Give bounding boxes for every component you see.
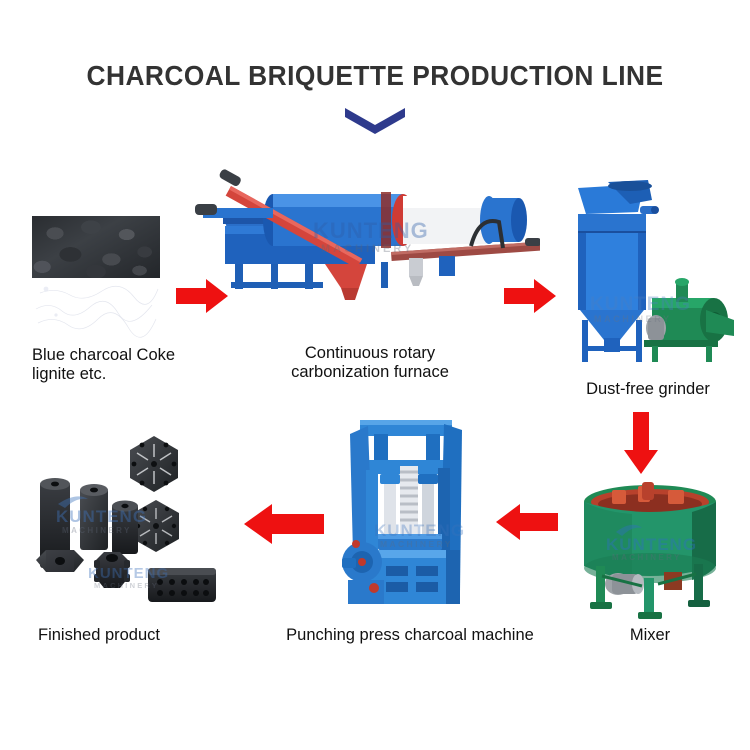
svg-text:MACHINERY: MACHINERY: [94, 581, 159, 590]
step-label-carbonization-furnace: Continuous rotary carbonization furnace: [225, 344, 515, 382]
step-label-punching-press: Punching press charcoal machine: [240, 626, 580, 645]
flow-arrow-left-2: [244, 502, 324, 551]
svg-text:KUNTENG: KUNTENG: [606, 535, 697, 554]
svg-text:MACHINERY: MACHINERY: [380, 539, 453, 549]
svg-text:KUNTENG: KUNTENG: [313, 218, 429, 243]
finished-product-photo: KUNTENG MACHINERY KUNTENG MACHINERY: [28, 430, 238, 610]
mixer-photo: KUNTENG MACHINERY: [572, 480, 728, 620]
press-label: Punching press charcoal machine: [286, 626, 534, 644]
finished-product-label: Finished product: [38, 626, 160, 644]
raw-material-coal-photo: [32, 216, 160, 278]
punching-press-photo: KUNTENG MACHINERY: [330, 410, 490, 610]
svg-text:KUNTENG: KUNTENG: [590, 294, 691, 315]
svg-text:KUNTENG: KUNTENG: [88, 565, 169, 582]
mixer-label: Mixer: [630, 626, 670, 644]
production-line-infographic: CHARCOAL BRIQUETTE PRODUCTION LINE Blue …: [0, 0, 750, 750]
svg-text:KUNTENG: KUNTENG: [374, 521, 465, 540]
raw-material-label-line2: lignite etc.: [32, 365, 106, 383]
chevron-down-icon: [345, 108, 405, 134]
grinder-label: Dust-free grinder: [586, 380, 710, 398]
svg-text:KUNTENG: KUNTENG: [56, 507, 147, 526]
furnace-label-line2: carbonization furnace: [291, 363, 449, 381]
step-label-dust-free-grinder: Dust-free grinder: [548, 380, 748, 399]
carbonization-furnace-photo: KUNTENG MACHINERY: [195, 160, 540, 305]
flow-arrow-left-1: [496, 502, 558, 547]
flow-arrow-down-1: [623, 412, 659, 479]
svg-text:MACHINERY: MACHINERY: [612, 553, 682, 562]
raw-material-label-line1: Blue charcoal Coke: [32, 346, 175, 364]
svg-text:MACHINERY: MACHINERY: [62, 526, 132, 535]
furnace-label-line1: Continuous rotary: [305, 344, 435, 362]
svg-text:MACHINERY: MACHINERY: [594, 314, 672, 324]
svg-text:MACHINERY: MACHINERY: [321, 243, 414, 255]
step-label-mixer: Mixer: [572, 626, 728, 645]
step-label-raw-material: Blue charcoal Coke lignite etc.: [32, 346, 222, 384]
step-label-finished-product: Finished product: [38, 626, 258, 645]
page-title: CHARCOAL BRIQUETTE PRODUCTION LINE: [23, 60, 728, 92]
dust-free-grinder-photo: KUNTENG MACHINERY: [556, 170, 736, 365]
raw-material-lignite-photo: [32, 279, 160, 342]
flow-arrow-right-2: [504, 278, 556, 319]
